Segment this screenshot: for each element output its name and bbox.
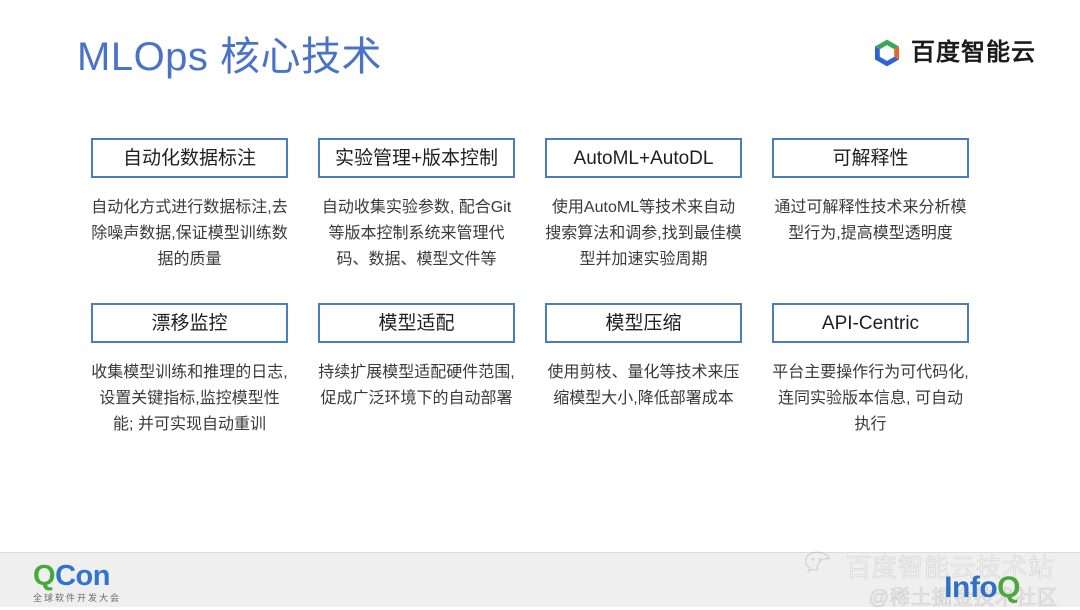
feature-card-title: 漂移监控: [151, 314, 227, 333]
feature-card: 实验管理+版本控制 自动收集实验参数, 配合Git等版本控制系统来管理代码、数据…: [318, 138, 515, 273]
page-title: MLOps 核心技术: [77, 24, 382, 82]
feature-card-description: 持续扩展模型适配硬件范围, 促成广泛环境下的自动部署: [318, 360, 515, 412]
footer-bar: QCon 全球软件开发大会: [0, 552, 1080, 607]
feature-card: 自动化数据标注 自动化方式进行数据标注,去除噪声数据,保证模型训练数据的质量: [91, 138, 288, 273]
feature-card-header: 模型适配: [318, 303, 515, 343]
feature-card-description: 收集模型训练和推理的日志,设置关键指标,监控模型性能; 并可实现自动重训: [91, 360, 288, 438]
feature-card: 模型压缩 使用剪枝、量化等技术来压缩模型大小,降低部署成本: [545, 303, 742, 412]
feature-card-header: 自动化数据标注: [91, 138, 288, 178]
baidu-hexagon-icon: [872, 38, 902, 68]
feature-card-description: 使用剪枝、量化等技术来压缩模型大小,降低部署成本: [545, 360, 742, 412]
feature-card-header: 模型压缩: [545, 303, 742, 343]
feature-card-header: AutoML+AutoDL: [545, 138, 742, 178]
qcon-wordmark: QCon: [33, 562, 121, 591]
feature-card-header: 实验管理+版本控制: [318, 138, 515, 178]
feature-card: API-Centric 平台主要操作行为可代码化, 连同实验版本信息, 可自动执…: [772, 303, 969, 438]
feature-card-description: 通过可解释性技术来分析模型行为,提高模型透明度: [772, 195, 969, 247]
infoq-logo: InfoQ: [944, 573, 1020, 603]
feature-card-title: 模型压缩: [605, 314, 681, 333]
feature-card: 漂移监控 收集模型训练和推理的日志,设置关键指标,监控模型性能; 并可实现自动重…: [91, 303, 288, 438]
feature-card-description: 使用AutoML等技术来自动搜索算法和调参,找到最佳模型并加速实验周期: [545, 195, 742, 273]
feature-card-title: 可解释性: [832, 149, 908, 168]
infoq-word-info: Info: [944, 571, 997, 604]
feature-card: AutoML+AutoDL 使用AutoML等技术来自动搜索算法和调参,找到最佳…: [545, 138, 742, 273]
feature-card-title: 模型适配: [378, 314, 454, 333]
feature-card-header: 可解释性: [772, 138, 969, 178]
feature-card-description: 自动化方式进行数据标注,去除噪声数据,保证模型训练数据的质量: [91, 195, 288, 273]
feature-card-title: 实验管理+版本控制: [335, 149, 498, 168]
slide-canvas: MLOps 核心技术 百度智能云 自动化数据标注 自动化方式进行数据标注,去除噪…: [0, 0, 1080, 607]
feature-card: 模型适配 持续扩展模型适配硬件范围, 促成广泛环境下的自动部署: [318, 303, 515, 412]
feature-card-title: AutoML+AutoDL: [574, 149, 714, 168]
baidu-intelligent-cloud-logo: 百度智能云: [872, 38, 1036, 68]
feature-card-description: 自动收集实验参数, 配合Git等版本控制系统来管理代码、数据、模型文件等: [318, 195, 515, 273]
feature-card-header: 漂移监控: [91, 303, 288, 343]
qcon-letter-q: Q: [33, 560, 55, 592]
feature-card-title: 自动化数据标注: [123, 149, 256, 168]
qcon-subtitle: 全球软件开发大会: [33, 594, 121, 603]
qcon-logo: QCon 全球软件开发大会: [33, 562, 121, 603]
feature-card-header: API-Centric: [772, 303, 969, 343]
baidu-logo-text: 百度智能云: [911, 41, 1036, 65]
feature-card: 可解释性 通过可解释性技术来分析模型行为,提高模型透明度: [772, 138, 969, 247]
feature-card-title: API-Centric: [822, 314, 919, 333]
qcon-letters-con: Con: [55, 560, 110, 592]
feature-card-description: 平台主要操作行为可代码化, 连同实验版本信息, 可自动执行: [772, 360, 969, 438]
infoq-letter-q: Q: [997, 571, 1020, 604]
